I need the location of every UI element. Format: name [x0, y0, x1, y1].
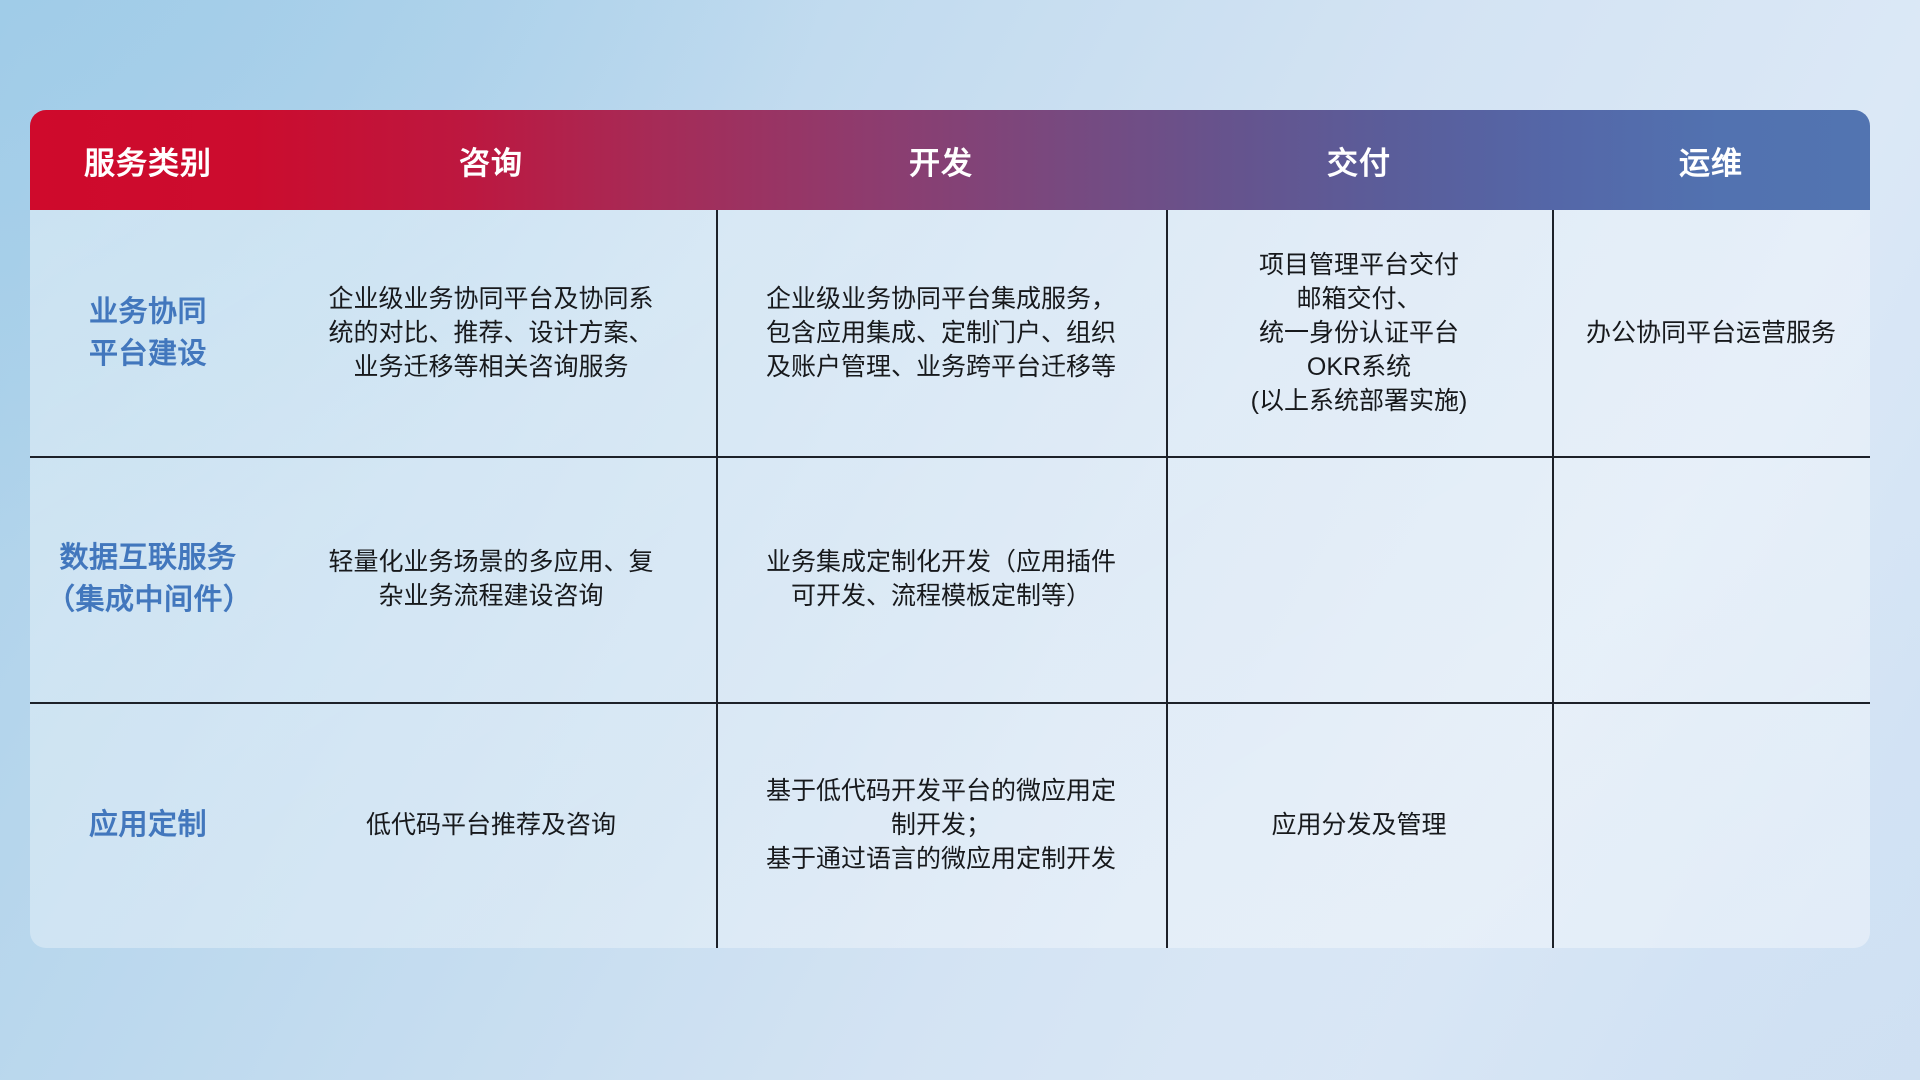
column-divider-2 — [1166, 210, 1168, 948]
column-header-category: 服务类别 — [30, 110, 266, 210]
table-row: 业务协同 平台建设 企业级业务协同平台及协同系 统的对比、推荐、设计方案、 业务… — [30, 210, 1870, 456]
cell-row1-delivery — [1166, 456, 1552, 702]
table-header-row: 服务类别 咨询 开发 交付 运维 — [30, 110, 1870, 210]
row-label-business-collaboration: 业务协同 平台建设 — [30, 210, 266, 456]
column-divider-1 — [716, 210, 718, 948]
row-label-app-customization: 应用定制 — [30, 702, 266, 948]
cell-row2-delivery: 应用分发及管理 — [1166, 702, 1552, 948]
cell-row2-development: 基于低代码开发平台的微应用定 制开发； 基于通过语言的微应用定制开发 — [716, 702, 1166, 948]
cell-row0-consulting: 企业级业务协同平台及协同系 统的对比、推荐、设计方案、 业务迁移等相关咨询服务 — [266, 210, 716, 456]
cell-row2-consulting: 低代码平台推荐及咨询 — [266, 702, 716, 948]
table-body: 业务协同 平台建设 企业级业务协同平台及协同系 统的对比、推荐、设计方案、 业务… — [30, 210, 1870, 948]
column-divider-3 — [1552, 210, 1554, 948]
cell-row0-operations: 办公协同平台运营服务 — [1552, 210, 1870, 456]
table-row: 应用定制 低代码平台推荐及咨询 基于低代码开发平台的微应用定 制开发； 基于通过… — [30, 702, 1870, 948]
column-header-delivery: 交付 — [1166, 110, 1552, 210]
service-matrix-table: 服务类别 咨询 开发 交付 运维 业务协同 平台建设 企业级业务协同平台及协同系… — [30, 110, 1870, 948]
cell-row2-operations — [1552, 702, 1870, 948]
cell-row1-development: 业务集成定制化开发（应用插件 可开发、流程模板定制等） — [716, 456, 1166, 702]
column-header-operations: 运维 — [1552, 110, 1870, 210]
column-header-development: 开发 — [716, 110, 1166, 210]
cell-row1-operations — [1552, 456, 1870, 702]
table-row: 数据互联服务 （集成中间件） 轻量化业务场景的多应用、复 杂业务流程建设咨询 业… — [30, 456, 1870, 702]
cell-row1-consulting: 轻量化业务场景的多应用、复 杂业务流程建设咨询 — [266, 456, 716, 702]
row-label-data-integration: 数据互联服务 （集成中间件） — [30, 456, 266, 702]
column-header-consulting: 咨询 — [266, 110, 716, 210]
cell-row0-development: 企业级业务协同平台集成服务， 包含应用集成、定制门户、组织 及账户管理、业务跨平… — [716, 210, 1166, 456]
cell-row0-delivery: 项目管理平台交付 邮箱交付、 统一身份认证平台 OKR系统 (以上系统部署实施) — [1166, 210, 1552, 456]
